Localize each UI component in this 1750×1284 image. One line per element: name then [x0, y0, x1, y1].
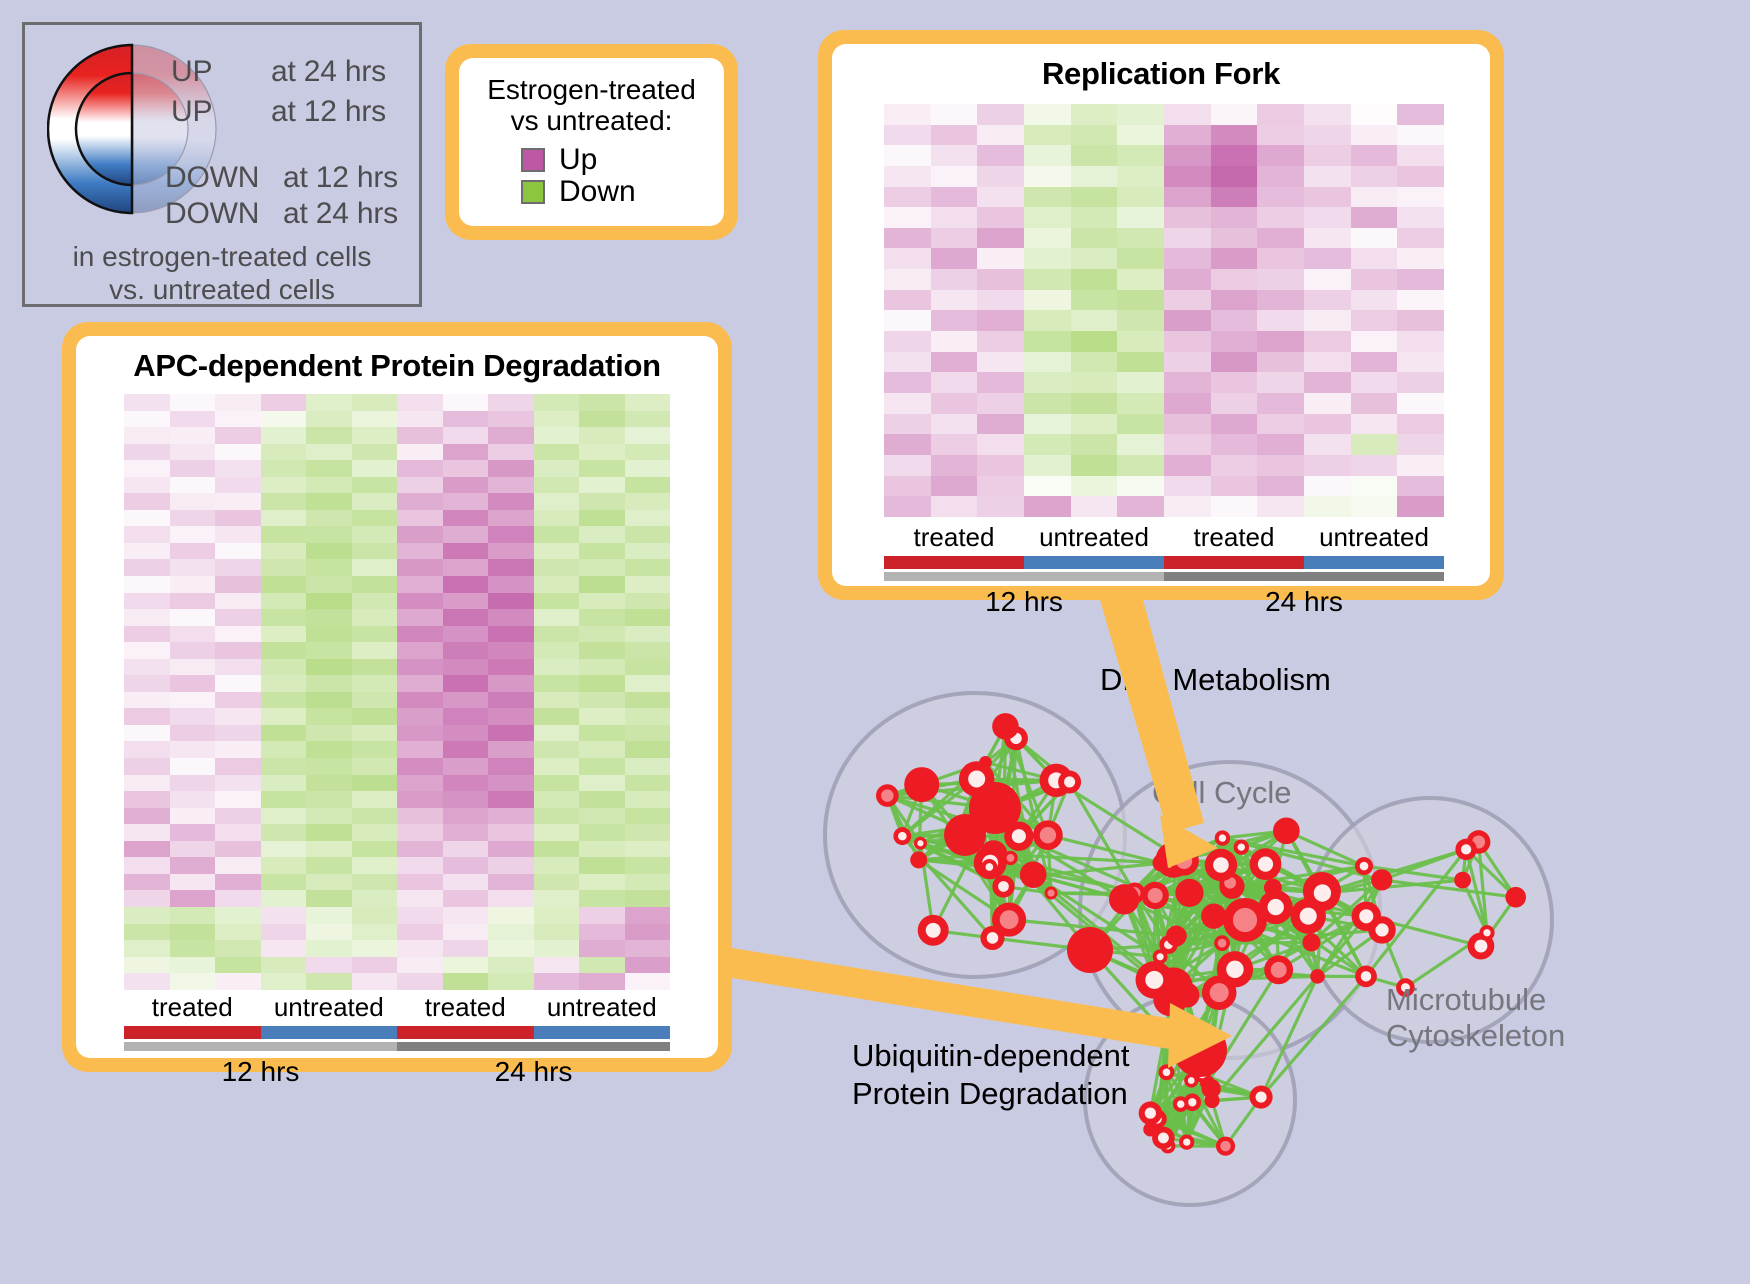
- heatmap-cell: [397, 559, 443, 576]
- heatmap-cell: [579, 758, 625, 775]
- heatmap-cell: [215, 857, 261, 874]
- heatmap-row: [124, 924, 670, 941]
- heatmap-cell: [215, 642, 261, 659]
- heatmap-cell: [1117, 455, 1164, 476]
- heatmap-cell: [579, 874, 625, 891]
- heatmap-cell: [215, 444, 261, 461]
- heatmap-cell: [1397, 187, 1444, 208]
- heatmap-cell: [352, 890, 398, 907]
- heatmap-cell: [1211, 414, 1258, 435]
- heatmap-row: [124, 543, 670, 560]
- network-node: [1201, 1079, 1220, 1098]
- heatmap-cell: [488, 411, 534, 428]
- heatmap-cell: [488, 609, 534, 626]
- heatmap-cell: [625, 973, 671, 990]
- heatmap-cell: [352, 874, 398, 891]
- heatmap-cell: [488, 940, 534, 957]
- heatmap-cell: [306, 725, 352, 742]
- heatmap-cell: [124, 510, 170, 527]
- heatmap-row: [124, 659, 670, 676]
- heatmap-cell: [306, 559, 352, 576]
- heatmap-cell: [1117, 414, 1164, 435]
- heatmap-cell: [261, 725, 307, 742]
- network-node: [1143, 1122, 1157, 1136]
- heatmap-cell: [261, 444, 307, 461]
- heatmap-cell: [306, 758, 352, 775]
- heatmap-row: [124, 493, 670, 510]
- heatmap-cell: [625, 444, 671, 461]
- heatmap-cell: [397, 526, 443, 543]
- heatmap-cell: [1257, 248, 1304, 269]
- heatmap-cell: [352, 460, 398, 477]
- heatmap-cell: [306, 775, 352, 792]
- heatmap-cell: [306, 857, 352, 874]
- heatmap-cell: [1024, 393, 1071, 414]
- heatmap-cell: [1117, 372, 1164, 393]
- heatmap-cell: [306, 890, 352, 907]
- heatmap-cell: [488, 427, 534, 444]
- heatmap-cell: [124, 841, 170, 858]
- heatmap-row: [884, 455, 1444, 476]
- heatmap-cell: [1024, 372, 1071, 393]
- heatmap-cell: [352, 576, 398, 593]
- heatmap-cell: [397, 907, 443, 924]
- heatmap-cell: [534, 857, 580, 874]
- treatment-color-segment: [397, 1026, 534, 1039]
- heatmap-cell: [124, 874, 170, 891]
- heatmap-cell: [1164, 434, 1211, 455]
- heatmap-cell: [443, 626, 489, 643]
- heatmap-cell: [443, 477, 489, 494]
- heatmap-cell: [534, 957, 580, 974]
- heatmap-cell: [443, 758, 489, 775]
- heatmap-cell: [443, 593, 489, 610]
- heatmap-cell: [1211, 331, 1258, 352]
- treatment-color-segment: [261, 1026, 398, 1039]
- heatmap-cell: [1351, 414, 1398, 435]
- heatmap-cell: [884, 393, 931, 414]
- heatmap-cell: [579, 493, 625, 510]
- heatmap-cell: [443, 411, 489, 428]
- heatmap-cell: [306, 460, 352, 477]
- heatmap-cell: [884, 228, 931, 249]
- heatmap-cell: [884, 414, 931, 435]
- heatmap-cell: [306, 874, 352, 891]
- sample-group-label: treated: [124, 992, 261, 1023]
- heatmap-cell: [534, 725, 580, 742]
- heatmap-cell: [1164, 207, 1211, 228]
- heatmap-cell: [579, 957, 625, 974]
- heatmap-cell: [1397, 455, 1444, 476]
- heatmap-cell: [884, 145, 931, 166]
- network-node: [1152, 854, 1169, 871]
- heatmap-cell: [579, 791, 625, 808]
- heatmap-cell: [170, 626, 216, 643]
- heatmap-cell: [488, 890, 534, 907]
- heatmap-cell: [215, 940, 261, 957]
- heatmap-cell: [1304, 414, 1351, 435]
- heatmap-row: [124, 857, 670, 874]
- heatmap-cell: [397, 957, 443, 974]
- heatmap-row: [884, 414, 1444, 435]
- heatmap-cell: [443, 427, 489, 444]
- heatmap-cell: [306, 808, 352, 825]
- heatmap-cell: [579, 543, 625, 560]
- heatmap-cell: [625, 659, 671, 676]
- heatmap-cell: [443, 526, 489, 543]
- timepoint-label: 24 hrs: [1164, 586, 1444, 618]
- heatmap-row: [124, 444, 670, 461]
- heatmap-cell: [931, 455, 978, 476]
- sample-group-label: untreated: [261, 992, 398, 1023]
- heatmap-cell: [352, 493, 398, 510]
- heatmap-cell: [397, 824, 443, 841]
- heatmap-row: [124, 460, 670, 477]
- heatmap-cell: [488, 973, 534, 990]
- heatmap-cell: [1211, 269, 1258, 290]
- heatmap-cell: [625, 857, 671, 874]
- key-row-down: Down: [521, 177, 724, 207]
- heatmap-cell: [884, 269, 931, 290]
- network-node: [1273, 817, 1300, 844]
- heatmap-cell: [1397, 393, 1444, 414]
- heatmap-cell: [170, 692, 216, 709]
- network-node: [1020, 861, 1047, 888]
- heatmap-cell: [1351, 166, 1398, 187]
- heatmap-cell: [1351, 372, 1398, 393]
- heatmap-cell: [1117, 125, 1164, 146]
- heatmap-cell: [884, 496, 931, 517]
- network-node: [1302, 933, 1320, 951]
- heatmap-cell: [931, 414, 978, 435]
- heatmap-cell: [124, 576, 170, 593]
- heatmap-cell: [443, 924, 489, 941]
- heatmap-cell: [1117, 476, 1164, 497]
- heatmap-cell: [579, 692, 625, 709]
- heatmap-cell: [443, 890, 489, 907]
- heatmap-cell: [261, 940, 307, 957]
- heatmap-cell: [261, 708, 307, 725]
- heatmap-cell: [215, 775, 261, 792]
- heatmap-cell: [1304, 166, 1351, 187]
- key-title-line1: Estrogen-treated: [459, 74, 724, 105]
- colorscale-legend-box: UP at 24 hrs UP at 12 hrs DOWN at 12 hrs…: [22, 22, 422, 307]
- heatmap-cell: [1024, 455, 1071, 476]
- heatmap-cell: [1304, 372, 1351, 393]
- heatmap-row: [124, 725, 670, 742]
- heatmap-row: [124, 526, 670, 543]
- heatmap-cell: [306, 907, 352, 924]
- heatmap-cell: [124, 493, 170, 510]
- heatmap-cell: [306, 957, 352, 974]
- heatmap-cell: [977, 269, 1024, 290]
- heatmap-cell: [261, 559, 307, 576]
- heatmap-cell: [1397, 166, 1444, 187]
- heatmap-cell: [625, 460, 671, 477]
- heatmap-row: [884, 476, 1444, 497]
- heatmap-cell: [534, 559, 580, 576]
- heatmap-cell: [1024, 104, 1071, 125]
- heatmap-row: [124, 841, 670, 858]
- heatmap-cell: [534, 708, 580, 725]
- heatmap-cell: [261, 576, 307, 593]
- heatmap-cell: [884, 187, 931, 208]
- key-row-up: Up: [521, 145, 724, 175]
- heatmap-row: [124, 791, 670, 808]
- heatmap-cell: [261, 626, 307, 643]
- heatmap-cell: [884, 207, 931, 228]
- heatmap-cell: [884, 372, 931, 393]
- heatmap-cell: [534, 907, 580, 924]
- heatmap-cell: [1397, 476, 1444, 497]
- heatmap-cell: [443, 675, 489, 692]
- up-color-swatch: [521, 148, 545, 172]
- heatmap-cell: [261, 791, 307, 808]
- heatmap-cell: [1117, 310, 1164, 331]
- heatmap-cell: [579, 460, 625, 477]
- heatmap-cell: [1164, 496, 1211, 517]
- heatmap-cell: [488, 444, 534, 461]
- heatmap-cell: [1071, 393, 1118, 414]
- heatmap-cell: [1351, 310, 1398, 331]
- heatmap-row: [124, 411, 670, 428]
- timepoint-label: 24 hrs: [397, 1056, 670, 1088]
- sample-group-label: treated: [1164, 522, 1304, 553]
- apc-degradation-heatmap: [124, 394, 670, 990]
- heatmap-cell: [1117, 290, 1164, 311]
- heatmap-cell: [488, 576, 534, 593]
- heatmap-cell: [1351, 496, 1398, 517]
- heatmap-cell: [397, 394, 443, 411]
- heatmap-cell: [397, 593, 443, 610]
- heatmap-cell: [579, 924, 625, 941]
- heatmap-cell: [443, 444, 489, 461]
- replication-fork-time-labels: 12 hrs24 hrs: [884, 586, 1444, 618]
- heatmap-cell: [1024, 496, 1071, 517]
- heatmap-cell: [397, 708, 443, 725]
- heatmap-cell: [977, 331, 1024, 352]
- heatmap-cell: [261, 973, 307, 990]
- heatmap-cell: [1071, 372, 1118, 393]
- heatmap-cell: [124, 775, 170, 792]
- heatmap-cell: [579, 857, 625, 874]
- heatmap-row: [124, 559, 670, 576]
- heatmap-cell: [1304, 125, 1351, 146]
- heatmap-cell: [977, 207, 1024, 228]
- heatmap-cell: [534, 460, 580, 477]
- heatmap-cell: [1071, 145, 1118, 166]
- heatmap-cell: [977, 393, 1024, 414]
- heatmap-cell: [534, 642, 580, 659]
- heatmap-cell: [534, 824, 580, 841]
- heatmap-cell: [534, 758, 580, 775]
- heatmap-cell: [397, 758, 443, 775]
- heatmap-cell: [1164, 414, 1211, 435]
- heatmap-cell: [1164, 331, 1211, 352]
- heatmap-cell: [1071, 331, 1118, 352]
- heatmap-row: [124, 593, 670, 610]
- heatmap-cell: [931, 104, 978, 125]
- heatmap-cell: [625, 427, 671, 444]
- heatmap-cell: [884, 310, 931, 331]
- heatmap-cell: [261, 857, 307, 874]
- heatmap-cell: [977, 166, 1024, 187]
- heatmap-cell: [1257, 228, 1304, 249]
- heatmap-cell: [397, 890, 443, 907]
- heatmap-cell: [306, 526, 352, 543]
- sample-group-label: untreated: [534, 992, 671, 1023]
- heatmap-cell: [884, 434, 931, 455]
- heatmap-cell: [352, 659, 398, 676]
- heatmap-cell: [397, 460, 443, 477]
- heatmap-cell: [1304, 228, 1351, 249]
- heatmap-cell: [977, 104, 1024, 125]
- heatmap-cell: [1351, 434, 1398, 455]
- heatmap-cell: [1397, 310, 1444, 331]
- heatmap-cell: [170, 642, 216, 659]
- heatmap-cell: [488, 477, 534, 494]
- heatmap-cell: [625, 741, 671, 758]
- heatmap-row: [884, 310, 1444, 331]
- heatmap-cell: [1024, 187, 1071, 208]
- heatmap-cell: [443, 642, 489, 659]
- heatmap-cell: [1257, 352, 1304, 373]
- heatmap-cell: [579, 659, 625, 676]
- heatmap-cell: [443, 725, 489, 742]
- heatmap-cell: [124, 725, 170, 742]
- heatmap-cell: [579, 940, 625, 957]
- heatmap-row: [884, 496, 1444, 517]
- heatmap-cell: [306, 675, 352, 692]
- heatmap-cell: [977, 476, 1024, 497]
- heatmap-cell: [534, 394, 580, 411]
- key-title-line2: vs untreated:: [459, 105, 724, 136]
- heatmap-cell: [215, 841, 261, 858]
- heatmap-cell: [1304, 496, 1351, 517]
- heatmap-cell: [488, 626, 534, 643]
- network-node: [1175, 879, 1203, 907]
- heatmap-cell: [625, 874, 671, 891]
- heatmap-cell: [1024, 331, 1071, 352]
- heatmap-cell: [534, 593, 580, 610]
- heatmap-cell: [352, 940, 398, 957]
- heatmap-row: [124, 973, 670, 990]
- heatmap-cell: [1351, 331, 1398, 352]
- heatmap-cell: [1117, 269, 1164, 290]
- heatmap-cell: [1117, 248, 1164, 269]
- heatmap-cell: [215, 973, 261, 990]
- heatmap-cell: [1071, 104, 1118, 125]
- heatmap-cell: [352, 526, 398, 543]
- timepoint-color-segment: [884, 572, 1164, 581]
- heatmap-cell: [488, 692, 534, 709]
- treatment-color-segment: [1304, 556, 1444, 569]
- heatmap-cell: [215, 874, 261, 891]
- heatmap-cell: [443, 775, 489, 792]
- heatmap-cell: [1257, 207, 1304, 228]
- timepoint-label: 12 hrs: [884, 586, 1164, 618]
- heatmap-cell: [1304, 207, 1351, 228]
- heatmap-cell: [352, 427, 398, 444]
- heatmap-cell: [1257, 187, 1304, 208]
- heatmap-cell: [352, 791, 398, 808]
- heatmap-cell: [215, 427, 261, 444]
- heatmap-cell: [306, 493, 352, 510]
- heatmap-cell: [397, 659, 443, 676]
- heatmap-cell: [1117, 331, 1164, 352]
- heatmap-cell: [1164, 228, 1211, 249]
- heatmap-cell: [443, 791, 489, 808]
- heatmap-cell: [124, 559, 170, 576]
- heatmap-cell: [534, 411, 580, 428]
- heatmap-cell: [931, 434, 978, 455]
- heatmap-cell: [1257, 414, 1304, 435]
- heatmap-cell: [1117, 187, 1164, 208]
- heatmap-cell: [261, 427, 307, 444]
- heatmap-cell: [170, 907, 216, 924]
- heatmap-cell: [124, 593, 170, 610]
- heatmap-cell: [488, 874, 534, 891]
- heatmap-cell: [170, 957, 216, 974]
- heatmap-cell: [261, 907, 307, 924]
- heatmap-cell: [931, 187, 978, 208]
- heatmap-cell: [124, 477, 170, 494]
- heatmap-cell: [625, 526, 671, 543]
- heatmap-cell: [625, 940, 671, 957]
- heatmap-cell: [261, 394, 307, 411]
- heatmap-cell: [1211, 393, 1258, 414]
- replication-fork-sample-labels: treateduntreatedtreateduntreated: [884, 522, 1444, 553]
- heatmap-cell: [1351, 207, 1398, 228]
- heatmap-cell: [1211, 372, 1258, 393]
- heatmap-cell: [306, 576, 352, 593]
- heatmap-cell: [306, 741, 352, 758]
- heatmap-cell: [488, 543, 534, 560]
- heatmap-cell: [261, 775, 307, 792]
- apc-treatment-colorbar: [124, 1026, 670, 1039]
- heatmap-cell: [1071, 476, 1118, 497]
- down-color-swatch: [521, 180, 545, 204]
- heatmap-cell: [1164, 310, 1211, 331]
- heatmap-cell: [1257, 145, 1304, 166]
- heatmap-cell: [534, 444, 580, 461]
- heatmap-cell: [488, 708, 534, 725]
- network-node: [1166, 926, 1187, 947]
- heatmap-cell: [261, 741, 307, 758]
- heatmap-cell: [931, 145, 978, 166]
- network-node: [1067, 927, 1113, 973]
- heatmap-cell: [261, 460, 307, 477]
- heatmap-cell: [1164, 290, 1211, 311]
- heatmap-cell: [443, 460, 489, 477]
- apc-time-labels: 12 hrs24 hrs: [124, 1056, 670, 1088]
- heatmap-cell: [931, 372, 978, 393]
- heatmap-cell: [977, 248, 1024, 269]
- heatmap-cell: [443, 692, 489, 709]
- heatmap-cell: [1397, 290, 1444, 311]
- heatmap-cell: [931, 476, 978, 497]
- apc-sample-labels: treateduntreatedtreateduntreated: [124, 992, 670, 1023]
- heatmap-cell: [534, 841, 580, 858]
- heatmap-row: [884, 434, 1444, 455]
- heatmap-cell: [170, 675, 216, 692]
- heatmap-cell: [1304, 104, 1351, 125]
- heatmap-cell: [215, 808, 261, 825]
- heatmap-cell: [1351, 125, 1398, 146]
- legend-up-24-direction: UP: [171, 55, 212, 89]
- heatmap-cell: [306, 841, 352, 858]
- heatmap-cell: [261, 642, 307, 659]
